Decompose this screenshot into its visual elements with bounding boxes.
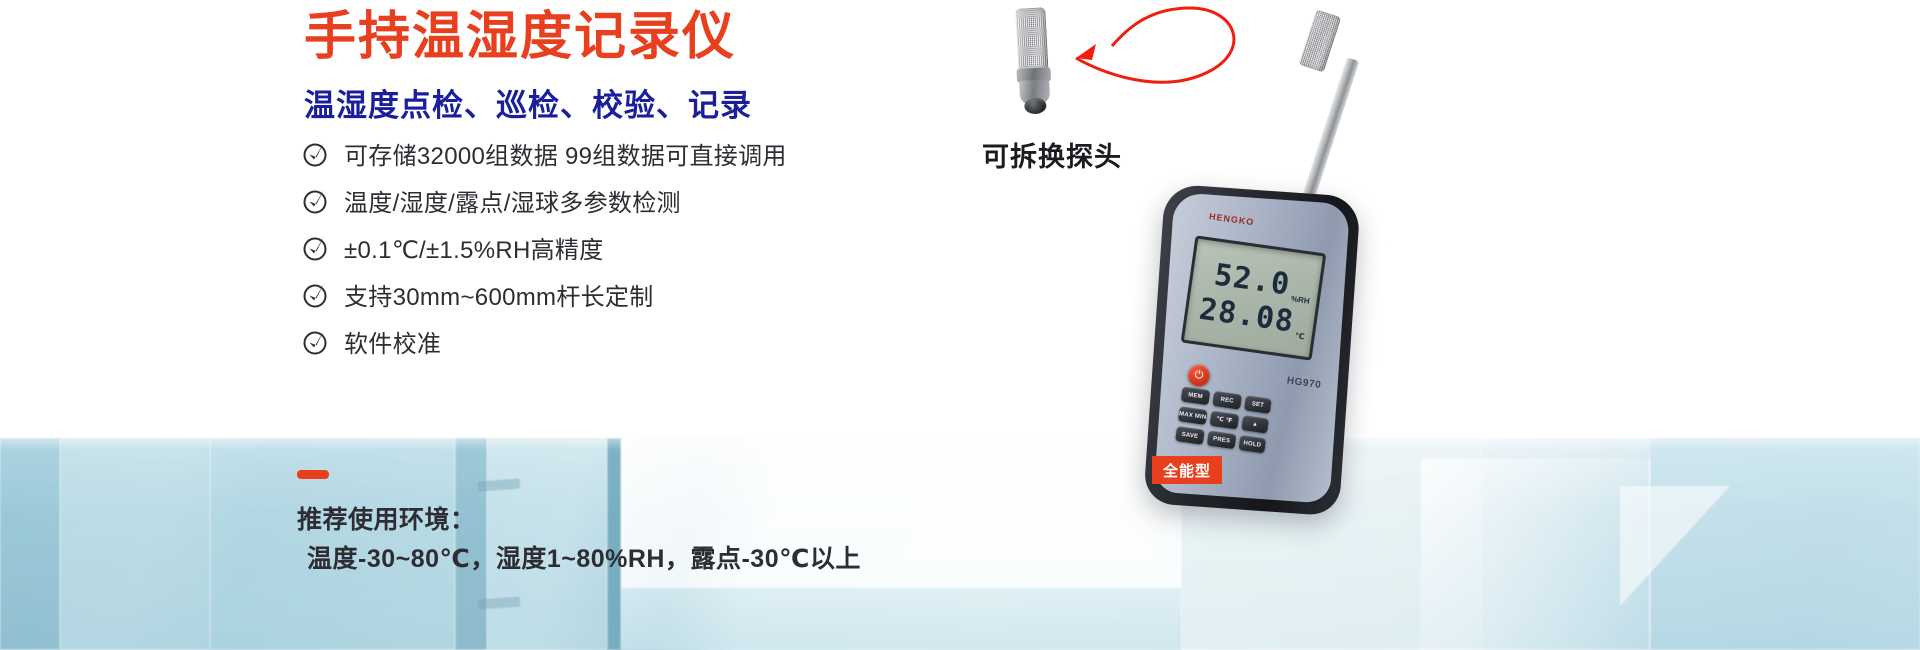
power-icon[interactable]: ⏻ [1187,363,1212,388]
list-item: 软件校准 [302,318,922,365]
band-top-fade [0,424,1920,450]
feature-list: 可存储32000组数据 99组数据可直接调用 温度/湿度/露点/湿球多参数检测 [302,130,922,365]
key-button[interactable]: ℃ ℉ [1209,411,1239,430]
note-dash-divider [297,470,329,479]
note-detail: 温度-30~80℃，湿度1~80%RH，露点-30℃以上 [297,540,861,579]
list-item-label: 温度/湿度/露点/湿球多参数检测 [344,183,681,218]
note-heading: 推荐使用环境： [297,501,861,540]
key-button[interactable]: MAX MIN [1178,406,1208,425]
background-pane [0,438,60,650]
list-item-label: 可存储32000组数据 99组数据可直接调用 [344,136,787,171]
status-badge: 全能型 [1152,456,1222,484]
page-title: 手持温湿度记录仪 [304,8,736,68]
key-button[interactable]: REC [1212,391,1242,410]
background-photo-band [0,438,1920,650]
key-button[interactable]: ▲ [1241,415,1269,433]
check-circle-icon [302,281,330,309]
usage-note: 推荐使用环境： 温度-30~80℃，湿度1~80%RH，露点-30℃以上 [297,470,861,579]
sensor-mesh-tip [1299,9,1342,72]
key-button[interactable]: PRES [1207,430,1237,449]
list-item: 支持30mm~600mm杆长定制 [302,271,922,318]
check-circle-icon [302,328,330,356]
lcd-display: 52.0 %RH 28.08 ℃ [1181,235,1327,360]
check-circle-icon [302,234,330,262]
callout-arrow-icon [1040,0,1280,120]
probe-callout-label: 可拆换探头 [982,135,1122,174]
background-highlight [1620,486,1730,606]
page-subtitle: 温湿度点检、巡检、校验、记录 [304,80,752,125]
key-button[interactable]: SAVE [1175,426,1205,445]
product-banner: 手持温湿度记录仪 温湿度点检、巡检、校验、记录 可存储32000组数据 99组数… [0,0,1920,650]
keypad: MEM REC SET MAX MIN ℃ ℉ ▲ SAVE PRES HOLD [1165,386,1327,502]
check-circle-icon [302,187,330,215]
list-item: ±0.1℃/±1.5%RH高精度 [302,224,922,271]
brand-label: HENGKO [1208,211,1254,227]
band-blur-layer [0,438,1920,650]
lcd-temperature-unit: ℃ [1294,331,1305,341]
list-item-label: 支持30mm~600mm杆长定制 [344,277,654,312]
list-item: 温度/湿度/露点/湿球多参数检测 [302,177,922,224]
key-button[interactable]: MEM [1181,386,1211,405]
background-pane [1420,458,1650,650]
list-item: 可存储32000组数据 99组数据可直接调用 [302,130,922,177]
background-pane [60,438,210,650]
list-item-label: 软件校准 [344,324,441,359]
model-label: HG970 [1286,375,1322,391]
list-item-label: ±0.1℃/±1.5%RH高精度 [344,230,604,265]
check-circle-icon [302,140,330,168]
key-button[interactable]: HOLD [1238,435,1266,453]
background-pane [621,588,1181,650]
key-button[interactable]: SET [1244,395,1272,413]
